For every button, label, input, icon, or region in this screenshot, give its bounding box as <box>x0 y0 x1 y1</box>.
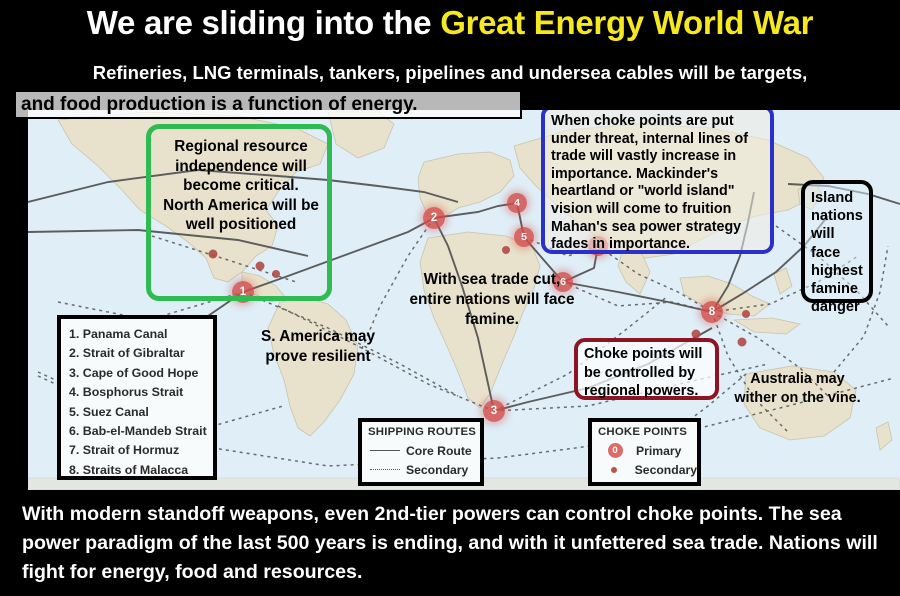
chokepoint-index-list: 1. Panama Canal2. Strait of Gibraltar3. … <box>69 325 213 480</box>
map-label-famine: With sea trade cut, entire nations will … <box>406 270 578 330</box>
legend-row-secondary-choke: Secondary <box>598 460 697 479</box>
chokepoint-marker-3: 3 <box>483 400 505 422</box>
legend-label-secondary: Secondary <box>635 463 697 477</box>
boxed-subtitle-line: and food production is a function of ene… <box>14 90 522 119</box>
footer-banner: With modern standoff weapons, even 2nd-t… <box>0 492 900 596</box>
dashed-line-icon <box>368 469 402 470</box>
callout-red-text: Choke points will be controlled by regio… <box>578 342 715 401</box>
legend-row-secondary-route: Secondary <box>368 460 480 479</box>
chokepoint-list-item: 1. Panama Canal <box>69 325 213 344</box>
choke-points-legend: CHOKE POINTS 0 Primary Secondary <box>588 418 701 486</box>
page-title: We are sliding into the Great Energy Wor… <box>0 4 900 42</box>
callout-choke-points-threat: When choke points are put under threat, … <box>541 105 774 254</box>
primary-choke-dot-icon: 0 <box>598 443 632 458</box>
choke-points-legend-title: CHOKE POINTS <box>598 426 697 438</box>
legend-label-secondary-route: Secondary <box>406 463 468 477</box>
title-highlight-part: Great Energy World War <box>440 4 813 41</box>
boxed-subtitle-text: and food production is a function of ene… <box>16 92 520 117</box>
footer-text: With modern standoff weapons, even 2nd-t… <box>0 492 900 587</box>
callout-black-text: Island nations will face highest famine … <box>805 184 869 316</box>
chokepoint-marker-2: 2 <box>423 207 445 229</box>
map-label-australia: Australia may wither on the vine. <box>730 370 865 407</box>
chokepoint-marker-5: 5 <box>514 227 534 247</box>
secondary-choke-dot-icon <box>598 467 631 473</box>
legend-row-core-route: Core Route <box>368 441 480 460</box>
chokepoint-marker-8: 8 <box>701 301 723 323</box>
shipping-routes-legend-title: SHIPPING ROUTES <box>368 426 480 438</box>
chokepoint-list-item: 2. Strait of Gibraltar <box>69 344 213 363</box>
callout-regional-powers: Choke points will be controlled by regio… <box>574 338 719 400</box>
chokepoint-list-item: 6. Bab-el-Mandeb Strait <box>69 422 213 441</box>
legend-row-primary-choke: 0 Primary <box>598 441 697 460</box>
chokepoint-index-legend: 1. Panama Canal2. Strait of Gibraltar3. … <box>57 315 217 480</box>
infographic-poster: 12345678 Regional resource independence … <box>0 0 900 596</box>
legend-label-primary: Primary <box>636 444 681 458</box>
chokepoint-marker-4: 4 <box>507 193 527 213</box>
callout-island-nations: Island nations will face highest famine … <box>801 180 873 303</box>
primary-choke-symbol: 0 <box>608 443 623 458</box>
solid-line-icon <box>368 450 402 451</box>
title-plain-part: We are sliding into the <box>87 4 440 41</box>
chokepoint-list-item: 7. Strait of Hormuz <box>69 441 213 460</box>
callout-blue-text: When choke points are put under threat, … <box>545 109 770 254</box>
map-label-south-america: S. America may prove resilient <box>256 327 380 367</box>
chokepoint-list-item: 3. Cape of Good Hope <box>69 364 213 383</box>
shipping-routes-legend: SHIPPING ROUTES Core Route Secondary <box>358 418 484 486</box>
chokepoint-list-item: 8. Straits of Malacca <box>69 461 213 480</box>
callout-regional-resource: Regional resource independence will beco… <box>146 124 332 301</box>
chokepoint-list-item: 5. Suez Canal <box>69 403 213 422</box>
subtitle-line: Refineries, LNG terminals, tankers, pipe… <box>0 62 900 84</box>
legend-label-core-route: Core Route <box>406 444 472 458</box>
chokepoint-list-item: 4. Bosphorus Strait <box>69 383 213 402</box>
callout-green-text: Regional resource independence will beco… <box>151 129 327 235</box>
